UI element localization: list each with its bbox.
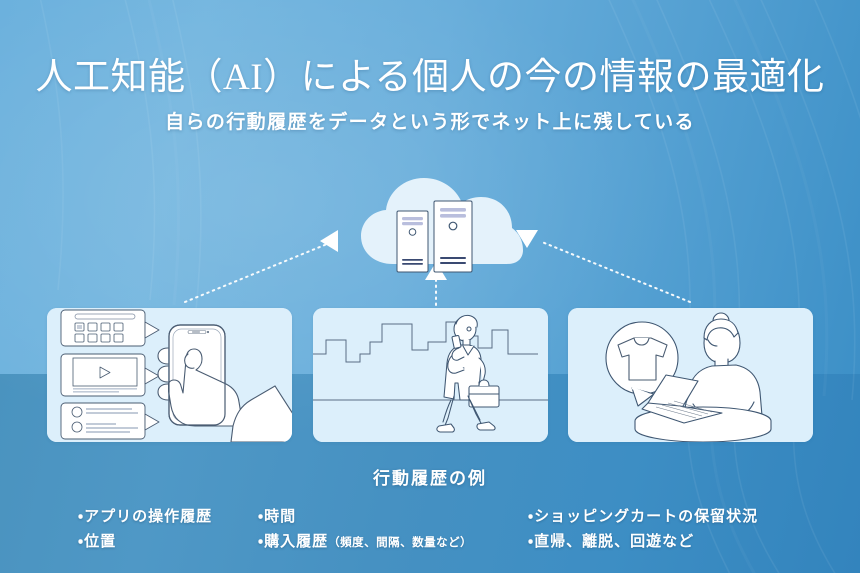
list-item: ・直帰、離脱、回遊など <box>528 529 758 554</box>
examples-column-1: ・アプリの操作履歴 ・位置 <box>78 504 212 554</box>
list-label: アプリの操作履歴 <box>84 508 212 525</box>
panel-walking-person <box>313 308 548 442</box>
list-note: （頻度、間隔、数量など） <box>328 537 472 549</box>
list-label: 購入履歴 <box>264 533 328 550</box>
page-subtitle: 自らの行動履歴をデータという形でネット上に残している <box>0 107 860 134</box>
list-label: 時間 <box>264 508 296 525</box>
list-label: ショッピングカートの保留状況 <box>534 508 758 525</box>
list-item: ・購入履歴（頻度、間隔、数量など） <box>258 529 472 556</box>
list-item: ・ショッピングカートの保留状況 <box>528 504 758 529</box>
cloud-servers-illustration <box>355 172 525 292</box>
page-title: 人工知能（AI）による個人の今の情報の最適化 <box>0 46 860 100</box>
list-label: 位置 <box>84 533 116 550</box>
examples-heading: 行動履歴の例 <box>0 464 860 489</box>
server-tower-left <box>397 211 428 272</box>
server-tower-right <box>434 201 472 272</box>
panel-smartphone-apps <box>47 308 292 442</box>
list-item: ・アプリの操作履歴 <box>78 504 212 529</box>
list-item: ・時間 <box>258 504 472 529</box>
examples-column-2: ・時間 ・購入履歴（頻度、間隔、数量など） <box>258 504 472 556</box>
slide-root: 人工知能（AI）による個人の今の情報の最適化 自らの行動履歴をデータという形でネ… <box>0 0 860 573</box>
list-label: 直帰、離脱、回遊など <box>534 533 694 550</box>
list-item: ・位置 <box>78 529 212 554</box>
panel-online-shopping <box>568 308 813 442</box>
examples-column-3: ・ショッピングカートの保留状況 ・直帰、離脱、回遊など <box>528 504 758 554</box>
